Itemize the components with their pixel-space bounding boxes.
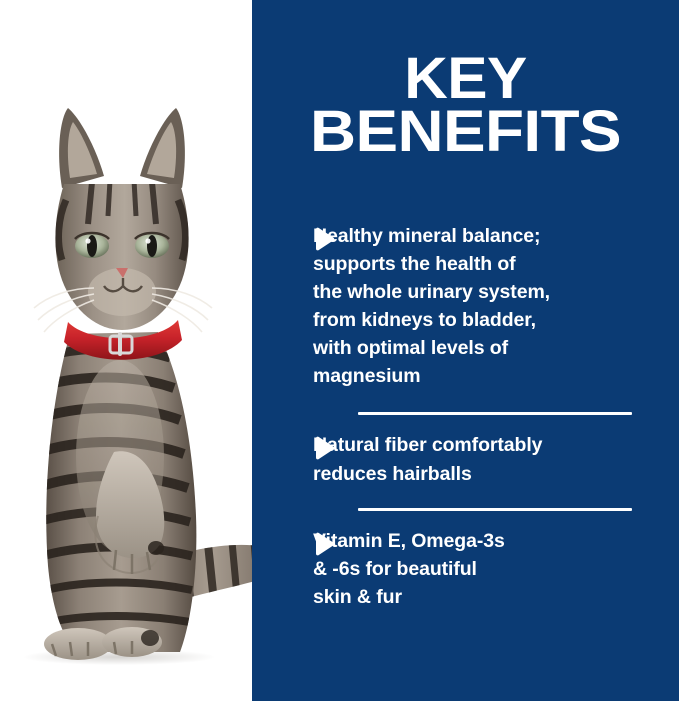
cat-photo-panel — [0, 0, 252, 701]
cat-head — [34, 108, 212, 332]
benefit-text-3: Vitamin E, Omega-3s & -6s for beautiful … — [313, 527, 657, 611]
benefit-divider-2 — [358, 508, 632, 511]
benefit-item-1: Healthy mineral balance; supports the he… — [252, 222, 679, 390]
key-benefits-ad: KEY BENEFITS Healthy mineral balance; su… — [0, 0, 679, 701]
play-triangle-icon — [313, 227, 336, 251]
page-title: KEY BENEFITS — [252, 52, 679, 159]
headline-line-2: BENEFITS — [231, 105, 679, 158]
play-triangle-icon — [313, 436, 336, 460]
benefit-divider-1 — [358, 412, 632, 415]
benefits-panel: KEY BENEFITS Healthy mineral balance; su… — [252, 0, 679, 701]
benefit-text-2: Natural fiber comfortably reduces hairba… — [313, 431, 657, 487]
headline-line-1: KEY — [243, 52, 679, 105]
play-triangle-icon — [313, 532, 336, 556]
benefit-item-3: Vitamin E, Omega-3s & -6s for beautiful … — [252, 527, 679, 611]
cat-illustration — [0, 96, 252, 676]
benefit-item-2: Natural fiber comfortably reduces hairba… — [252, 431, 679, 487]
cat-photo — [0, 0, 252, 701]
benefits-list: Healthy mineral balance; supports the he… — [252, 222, 679, 611]
benefit-text-1: Healthy mineral balance; supports the he… — [313, 222, 657, 390]
